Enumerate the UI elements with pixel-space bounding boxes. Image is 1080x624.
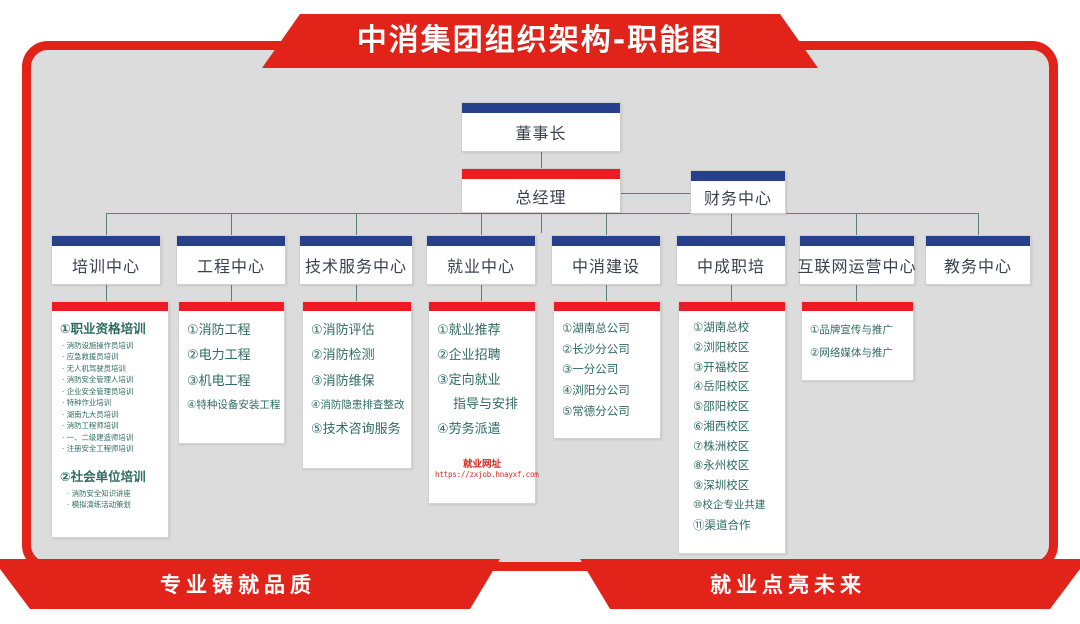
panel-item: ④劳务派遣: [437, 417, 529, 442]
panel-employment-center: ①就业推荐 ②企业招聘 ③定向就业 指导与安排 ④劳务派遣 就业网址 https…: [428, 301, 536, 504]
panel-item: ⑤邵阳校区: [693, 397, 779, 417]
node-department-technical-service-center[interactable]: 技术服务中心: [299, 235, 413, 285]
panel-item: ②浏阳校区: [693, 338, 779, 358]
connector-panel-2: [231, 285, 232, 301]
node-label-department: 培训中心: [72, 243, 140, 277]
title-banner: 中消集团组织架构-职能图: [262, 14, 818, 68]
panel-sub-item: · 注册安全工程师培训: [62, 443, 162, 454]
panel-item: ③机电工程: [187, 369, 278, 394]
node-cap-blue: [691, 171, 785, 181]
connector-drop-1: [106, 213, 107, 235]
panel-zhongxiao-construction: ①湖南总公司 ②长沙分公司 ③一分公司 ④浏阳分公司 ⑤常德分公司: [553, 301, 661, 439]
employment-url-link[interactable]: https://zxjob.hnayxf.com: [435, 470, 529, 479]
panel-item: ①消防工程: [187, 318, 278, 343]
node-department-training-center[interactable]: 培训中心: [51, 235, 161, 285]
panel-item: ⑧永州校区: [693, 456, 779, 476]
node-cap-blue: [52, 236, 160, 246]
panel-sub-item: · 湖南九大员培训: [62, 409, 162, 420]
panel-item: ⑨深圳校区: [693, 476, 779, 496]
node-general-manager[interactable]: 总经理: [461, 168, 621, 213]
panel-sub-item: · 企业安全管理员培训: [62, 386, 162, 397]
connector-panel-4: [481, 285, 482, 301]
panel-item: ③消防维保: [311, 369, 405, 394]
panel-sub-item: · 消防设施操作员培训: [62, 340, 162, 351]
node-cap-blue: [177, 236, 285, 246]
panel-sub-item: · 无人机驾驶员培训: [62, 363, 162, 374]
panel-item: ②网络媒体与推广: [810, 342, 907, 365]
panel-cap-red: [179, 302, 284, 311]
panel-sub-item: · 消防工程师培训: [62, 420, 162, 431]
node-department-engineering-center[interactable]: 工程中心: [176, 235, 286, 285]
panel-item: ④浏阳分公司: [562, 380, 654, 401]
node-cap-blue: [926, 236, 1030, 246]
node-label-department: 中消建设: [572, 243, 640, 277]
footer-ribbon-left: 专业铸就品质: [0, 559, 500, 609]
connector-drop-5: [606, 213, 607, 235]
panel-cap-red: [303, 302, 411, 311]
connector-panel-3: [356, 285, 357, 301]
node-cap-blue: [677, 236, 785, 246]
connector-panel-5: [606, 285, 607, 301]
panel-item: ⑥湘西校区: [693, 417, 779, 437]
node-cap-blue: [552, 236, 660, 246]
panel-training-center: ①职业资格培训 · 消防设施操作员培训 · 应急救援员培训 · 无人机驾驶员培训…: [51, 301, 169, 538]
panel-item: ①品牌宣传与推广: [810, 319, 907, 342]
node-label-department: 工程中心: [197, 243, 265, 277]
node-cap-blue: [300, 236, 412, 246]
connector-drop-8: [978, 213, 979, 235]
footer-ribbon: 专业铸就品质 就业点亮未来: [0, 559, 1080, 609]
node-finance-center[interactable]: 财务中心: [690, 170, 786, 214]
panel-cap-red: [554, 302, 660, 311]
connector-gm-bus: [541, 213, 542, 233]
node-label-chairman: 董事长: [515, 110, 566, 144]
panel-item: ⑩校企专业共建: [693, 496, 779, 516]
node-department-employment-center[interactable]: 就业中心: [426, 235, 536, 285]
panel-sub-item: · 一、二级建造师培训: [62, 432, 162, 443]
panel-sub-item: · 模拟演练活动策划: [67, 499, 162, 510]
node-cap-blue: [427, 236, 535, 246]
connector-panel-6: [731, 285, 732, 301]
panel-item: ①湖南总公司: [562, 318, 654, 339]
panel-item: 指导与安排: [437, 393, 529, 417]
panel-cap-red: [52, 302, 168, 311]
panel-item: ⑪渠道合作: [693, 516, 779, 536]
panel-item: ③开福校区: [693, 358, 779, 378]
panel-cap-red: [429, 302, 535, 311]
panel-item: ⑤常德分公司: [562, 401, 654, 422]
panel-technical-service-center: ①消防评估 ②消防检测 ③消防维保 ④消防隐患排查整改 ⑤技术咨询服务: [302, 301, 412, 469]
panel-engineering-center: ①消防工程 ②电力工程 ③机电工程 ④特种设备安装工程: [178, 301, 285, 444]
panel-item: ③定向就业: [437, 369, 529, 393]
node-cap-blue: [462, 103, 620, 113]
footer-slogan-right: 就业点亮未来: [710, 569, 866, 599]
node-department-zhongxiao-construction[interactable]: 中消建设: [551, 235, 661, 285]
panel-item: ③一分公司: [562, 359, 654, 380]
panel-item: ④消防隐患排查整改: [311, 394, 405, 417]
panel-sub-item: · 应急救援员培训: [62, 351, 162, 362]
panel-sub-item: · 消防安全知识讲座: [67, 488, 162, 499]
panel-item: ①就业推荐: [437, 318, 529, 343]
panel-internet-operations-center: ①品牌宣传与推广 ②网络媒体与推广: [801, 301, 914, 381]
panel-item: ④特种设备安装工程: [187, 394, 278, 417]
connector-drop-6: [731, 213, 732, 235]
panel-item: ①消防评估: [311, 318, 405, 343]
panel-group-title: ②社会单位培训: [60, 466, 162, 485]
node-label-department: 就业中心: [447, 243, 515, 277]
panel-sub-item: · 特种作业培训: [62, 397, 162, 408]
panel-zhongcheng-training: ①湖南总校 ②浏阳校区 ③开福校区 ④岳阳校区 ⑤邵阳校区 ⑥湘西校区 ⑦株洲校…: [678, 301, 786, 554]
node-cap-red: [462, 169, 620, 179]
panel-cap-red: [802, 302, 913, 311]
node-label-department: 技术服务中心: [305, 243, 407, 277]
node-label-department: 中成职培: [697, 243, 765, 277]
node-label-department: 互联网运营中心: [798, 243, 917, 277]
connector-drop-7: [856, 213, 857, 235]
panel-item: ②消防检测: [311, 343, 405, 368]
footer-ribbon-right: 就业点亮未来: [580, 559, 1080, 609]
footer-slogan-left: 专业铸就品质: [160, 569, 316, 599]
node-department-zhongcheng-training[interactable]: 中成职培: [676, 235, 786, 285]
org-chart-canvas: 中消集团组织架构-职能图 董事长 总经理 财务中心 培训中心 工程中心: [0, 0, 1080, 624]
connector-drop-3: [356, 213, 357, 235]
panel-group-title: ①职业资格培训: [60, 318, 162, 337]
connector-gm-finance: [620, 193, 690, 194]
node-cap-blue: [800, 236, 914, 246]
panel-item: ⑦株洲校区: [693, 437, 779, 457]
node-label-department: 教务中心: [944, 243, 1012, 277]
panel-cap-red: [679, 302, 785, 311]
panel-item: ②长沙分公司: [562, 339, 654, 360]
employment-url-label: 就业网址: [435, 456, 529, 470]
page-title: 中消集团组织架构-职能图: [357, 26, 723, 56]
panel-item: ①湖南总校: [693, 318, 779, 338]
connector-drop-2: [231, 213, 232, 235]
connector-panel-1: [106, 285, 107, 301]
panel-item: ⑤技术咨询服务: [311, 417, 405, 442]
panel-sub-item: · 消防安全管理人培训: [62, 374, 162, 385]
node-department-internet-operations-center[interactable]: 互联网运营中心: [799, 235, 915, 285]
node-department-academic-affairs-center[interactable]: 教务中心: [925, 235, 1031, 285]
connector-drop-4: [481, 213, 482, 235]
panel-item: ②企业招聘: [437, 343, 529, 368]
panel-item: ④岳阳校区: [693, 377, 779, 397]
connector-panel-7: [856, 285, 857, 301]
node-chairman[interactable]: 董事长: [461, 102, 621, 152]
connector-department-bus: [106, 213, 978, 214]
panel-item: ②电力工程: [187, 343, 278, 368]
